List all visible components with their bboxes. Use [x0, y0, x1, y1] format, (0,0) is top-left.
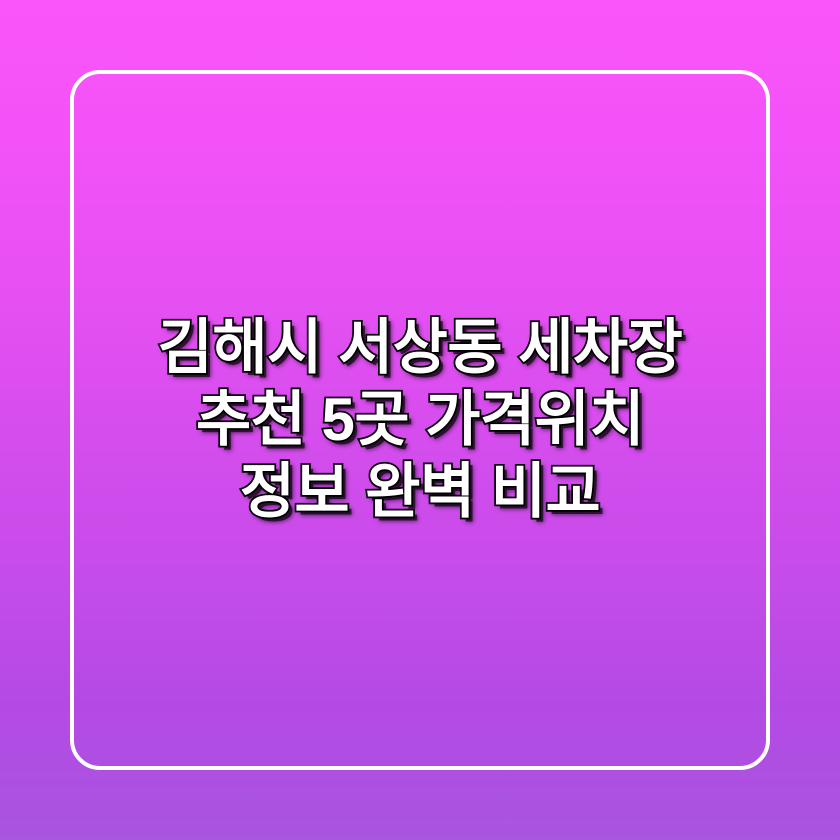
headline-line-1: 김해시 서상동 세차장 — [88, 312, 752, 384]
headline-line-3: 정보 완벽 비교 — [88, 456, 752, 528]
thumbnail-canvas: 김해시 서상동 세차장 추천 5곳 가격위치 정보 완벽 비교 — [0, 0, 840, 840]
headline-block: 김해시 서상동 세차장 추천 5곳 가격위치 정보 완벽 비교 — [70, 70, 770, 770]
headline-line-2: 추천 5곳 가격위치 — [88, 384, 752, 456]
